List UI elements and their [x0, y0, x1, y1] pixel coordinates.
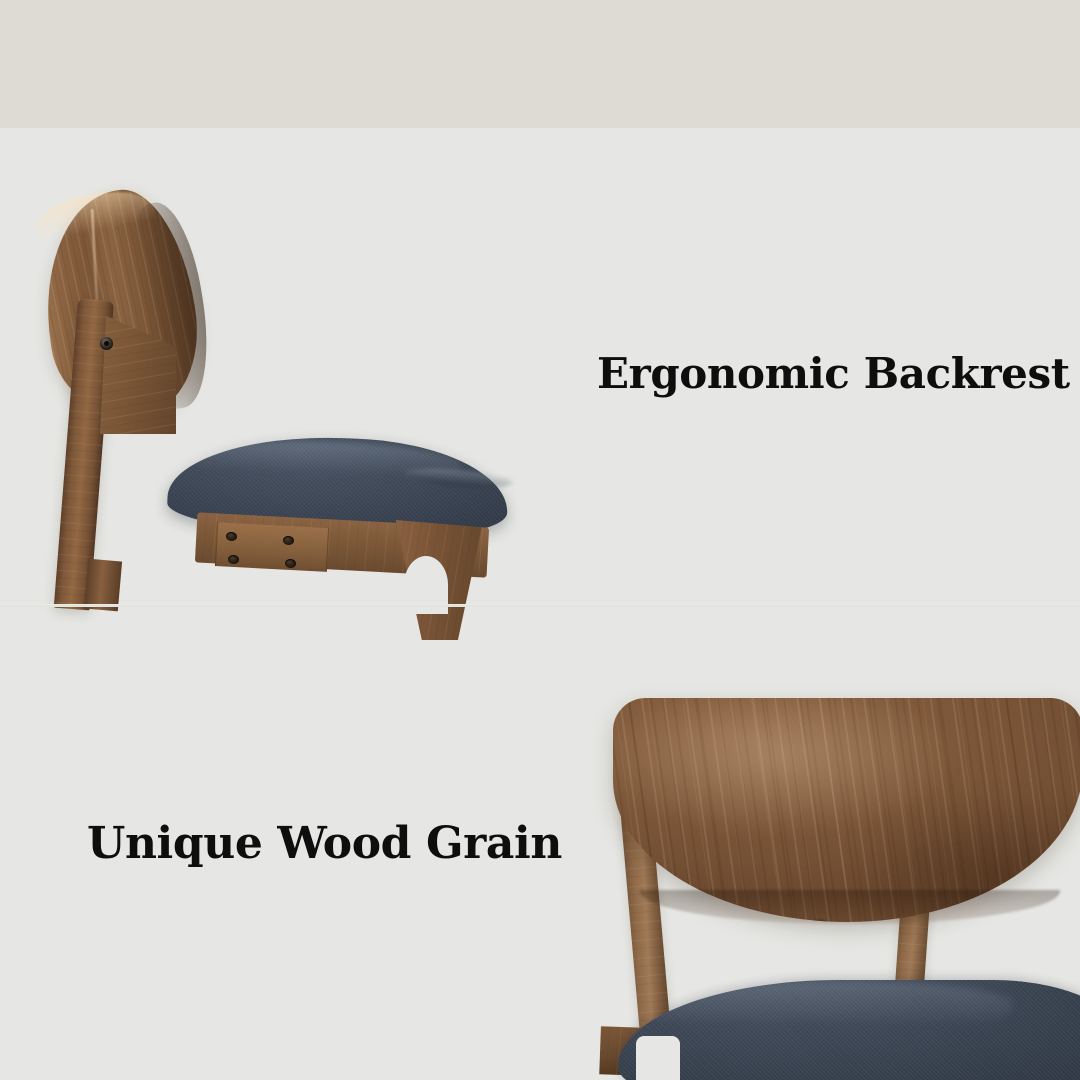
front-rail-cutout	[636, 1036, 680, 1080]
heading-unique-wood-grain: Unique Wood Grain	[87, 818, 562, 869]
backrest-wood-grain-panel	[613, 698, 1080, 922]
heading-ergonomic-backrest: Ergonomic Backrest	[597, 349, 1070, 398]
seat-cushion-closeup	[618, 980, 1080, 1080]
panel-divider	[0, 604, 1080, 607]
feature-collage: Ergonomic Backrest Unique Wood Grain	[0, 0, 1080, 1080]
chair-back-closeup	[0, 0, 1080, 1080]
